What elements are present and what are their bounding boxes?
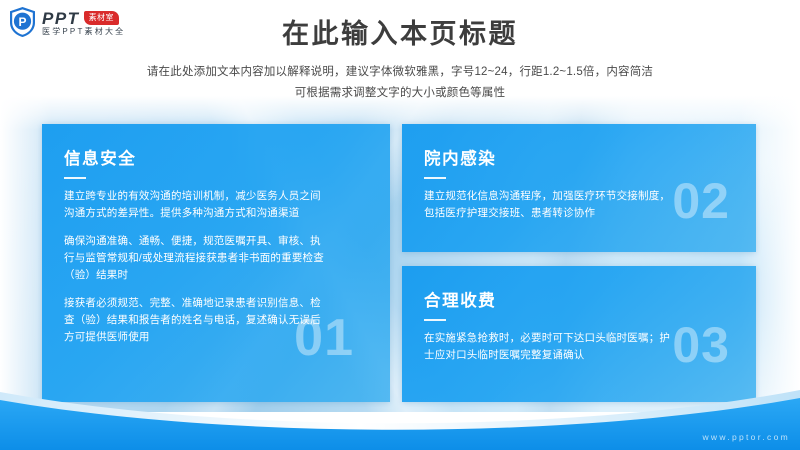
card-divider-01	[64, 177, 86, 179]
card-paragraph: 确保沟通准确、通畅、便捷，规范医嘱开具、审核、执行与监管常规和/或处理流程接获患…	[64, 233, 326, 284]
card-inner-01: 信息安全 建立跨专业的有效沟通的培训机制，减少医务人员之间沟通方式的差异性。提供…	[42, 124, 390, 346]
page-subtitle-line-1: 请在此处添加文本内容加以解释说明，建议字体微软雅黑，字号12~24，行距1.2~…	[0, 62, 800, 83]
card-paragraph: 接获者必须规范、完整、准确地记录患者识别信息、检查（验）结果和报告者的姓名与电话…	[64, 295, 326, 346]
card-paragraph: 在实施紧急抢救时，必要时可下达口头临时医嘱；护士应对口头临时医嘱完整复诵确认	[424, 330, 676, 364]
site-watermark: www.pptor.com	[702, 432, 790, 442]
page-subtitle: 请在此处添加文本内容加以解释说明，建议字体微软雅黑，字号12~24，行距1.2~…	[0, 62, 800, 105]
footer-wave-decoration	[0, 388, 800, 450]
card-body-01: 建立跨专业的有效沟通的培训机制，减少医务人员之间沟通方式的差异性。提供多种沟通方…	[64, 188, 326, 346]
card-body-03: 在实施紧急抢救时，必要时可下达口头临时医嘱；护士应对口头临时医嘱完整复诵确认	[424, 330, 676, 364]
card-paragraph: 建立跨专业的有效沟通的培训机制，减少医务人员之间沟通方式的差异性。提供多种沟通方…	[64, 188, 326, 222]
page-subtitle-line-2: 可根据需求调整文字的大小或颜色等属性	[0, 83, 800, 104]
card-inner-03: 合理收费 在实施紧急抢救时，必要时可下达口头临时医嘱；护士应对口头临时医嘱完整复…	[402, 266, 756, 364]
card-title-02: 院内感染	[424, 150, 734, 170]
card-divider-03	[424, 319, 446, 321]
card-paragraph: 建立规范化信息沟通程序，加强医疗环节交接制度，包括医疗护理交接班、患者转诊协作	[424, 188, 676, 222]
card-divider-02	[424, 177, 446, 179]
card-body-02: 建立规范化信息沟通程序，加强医疗环节交接制度，包括医疗护理交接班、患者转诊协作	[424, 188, 676, 222]
card-inner-02: 院内感染 建立规范化信息沟通程序，加强医疗环节交接制度，包括医疗护理交接班、患者…	[402, 124, 756, 222]
slide-canvas: P PPT 素材室 医学PPT素材大全 在此输入本页标题 请在此处添加文本内容加…	[0, 0, 800, 450]
content-card-02[interactable]: 02 院内感染 建立规范化信息沟通程序，加强医疗环节交接制度，包括医疗护理交接班…	[402, 124, 756, 252]
card-title-01: 信息安全	[64, 150, 368, 170]
content-card-01[interactable]: 01 信息安全 建立跨专业的有效沟通的培训机制，减少医务人员之间沟通方式的差异性…	[42, 124, 390, 402]
content-card-03[interactable]: 03 合理收费 在实施紧急抢救时，必要时可下达口头临时医嘱；护士应对口头临时医嘱…	[402, 266, 756, 402]
page-title: 在此输入本页标题	[0, 18, 800, 52]
card-title-03: 合理收费	[424, 292, 734, 312]
